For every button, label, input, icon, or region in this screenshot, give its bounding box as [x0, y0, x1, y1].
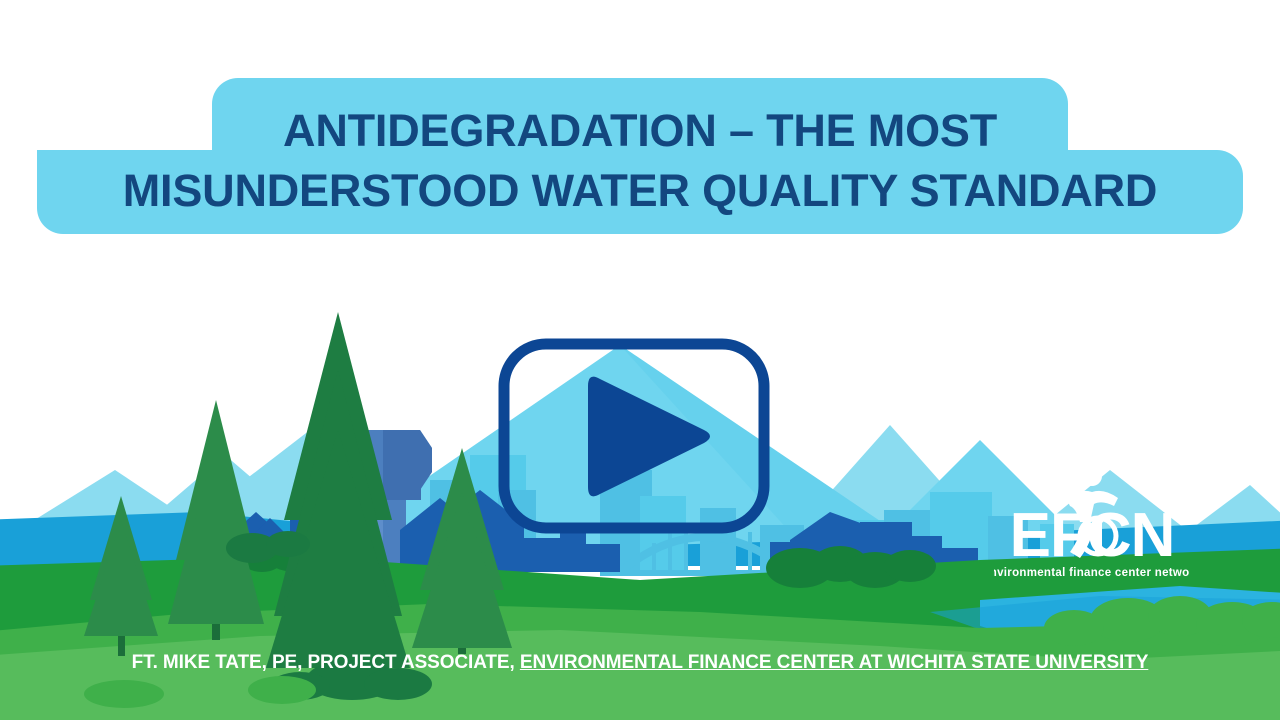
presenter-caption: FT. MIKE TATE, PE, PROJECT ASSOCIATE, EN… [70, 650, 1210, 675]
caption-plain-text: FT. MIKE TATE, PE, PROJECT ASSOCIATE, [132, 652, 520, 673]
svg-text:EFCN: EFCN [1010, 501, 1175, 570]
slide-title-line-2: MISUNDERSTOOD WATER QUALITY STANDARD [0, 168, 1280, 213]
video-slide: ANTIDEGRADATION – THE MOST MISUNDERSTOOD… [0, 0, 1280, 720]
caption-organization-link[interactable]: ENVIRONMENTAL FINANCE CENTER AT WICHITA … [520, 652, 1148, 673]
efcn-logo: EFCN environmental finance center networ… [994, 462, 1190, 586]
caption-bar: FT. MIKE TATE, PE, PROJECT ASSOCIATE, EN… [0, 644, 1280, 720]
efcn-tagline: environmental finance center network [994, 567, 1190, 579]
efcn-wordmark: EFCN [1010, 501, 1175, 570]
slide-title-line-1: ANTIDEGRADATION – THE MOST [0, 108, 1280, 153]
play-triangle-icon[interactable] [588, 377, 710, 497]
play-button[interactable]: Play video [498, 338, 770, 534]
